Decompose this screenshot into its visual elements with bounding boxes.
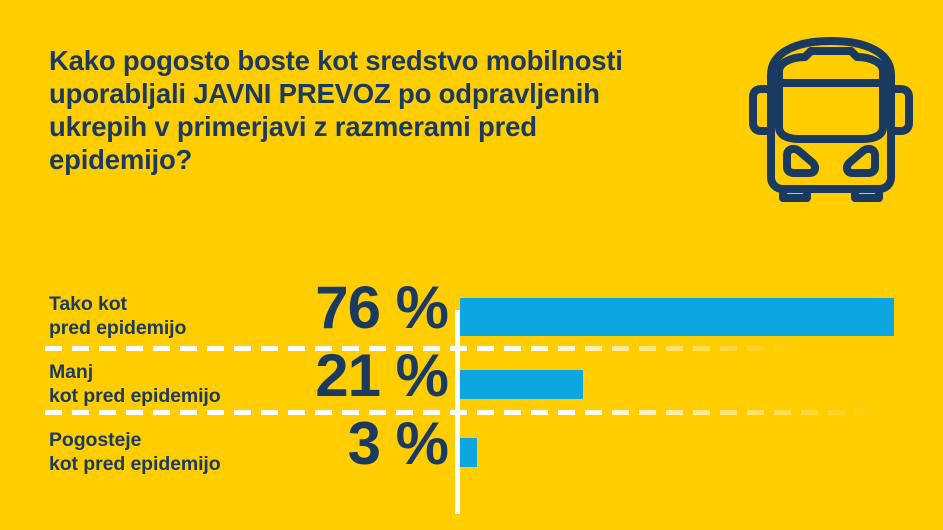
page-title: Kako pogosto boste kot sredstvo mobilnos… <box>49 44 709 176</box>
row-separator-1 <box>45 346 795 351</box>
bar <box>460 438 477 467</box>
title-line-1: Kako pogosto boste kot sredstvo mobilnos… <box>49 44 709 77</box>
title-line-2: uporabljali JAVNI PREVOZ po odpravljenih <box>49 77 709 110</box>
title-line-3: ukrepih v primerjavi z razmerami pred <box>49 110 709 143</box>
separator-fade <box>45 410 883 415</box>
row-separator-2 <box>45 410 883 415</box>
bar-chart: Tako kot pred epidemijo 76 % Manj kot pr… <box>0 283 943 530</box>
title-line-4: epidemijo? <box>49 143 709 176</box>
chart-row-tako-kot-pred-epidemijo: Tako kot pred epidemijo 76 % <box>0 283 943 351</box>
infographic-poster: Kako pogosto boste kot sredstvo mobilnos… <box>0 0 943 530</box>
chart-row-pogosteje-kot-pred-epidemijo: Pogosteje kot pred epidemijo 3 % <box>0 419 943 487</box>
row-value: 76 % <box>240 274 448 342</box>
bus-icon <box>743 27 919 203</box>
row-value: 21 % <box>240 342 448 410</box>
bar <box>460 370 583 399</box>
row-value: 3 % <box>240 410 448 478</box>
separator-fade <box>45 346 795 351</box>
bar <box>460 298 894 336</box>
chart-row-manj-kot-pred-epidemijo: Manj kot pred epidemijo 21 % <box>0 351 943 419</box>
